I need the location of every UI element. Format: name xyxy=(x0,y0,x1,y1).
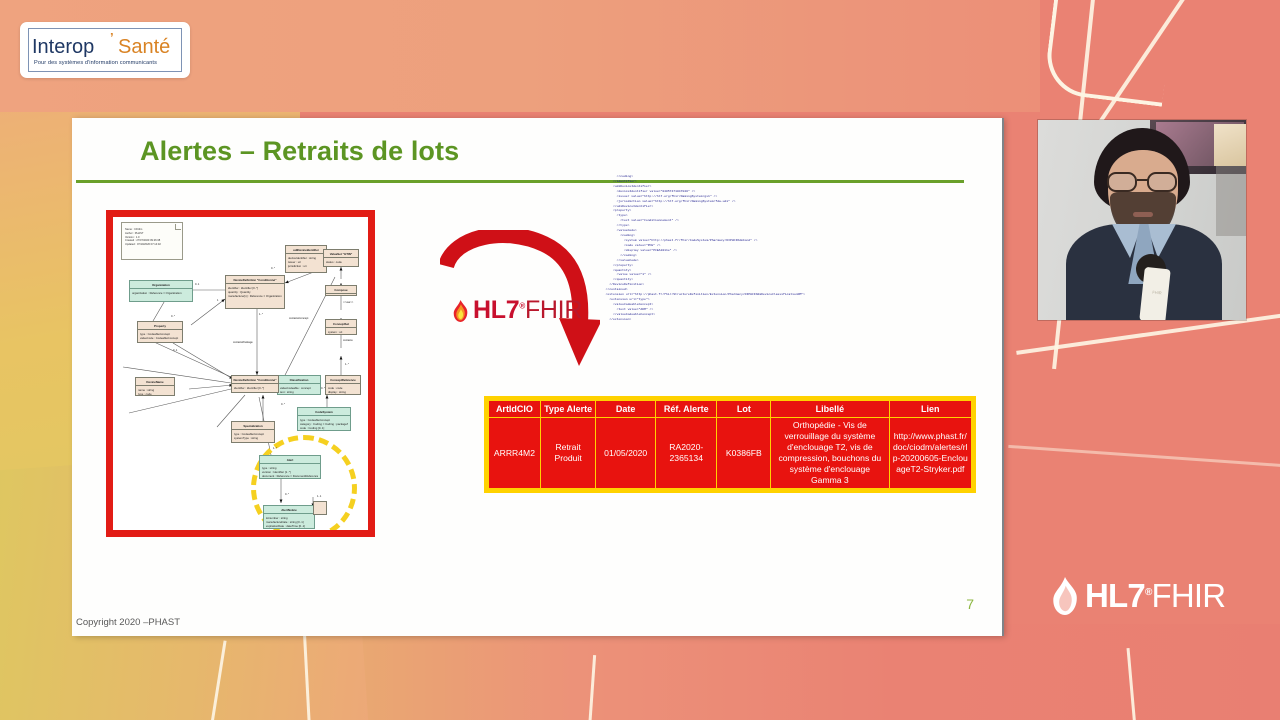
watermark-hl7: HL7 xyxy=(1085,577,1145,614)
col-header-lot: Lot xyxy=(717,401,771,418)
uml-class-devicename: DeviceName name : string type : code xyxy=(135,377,175,396)
logo-word-interop: Interop xyxy=(32,36,94,59)
fhir-logo-text: HL7®FHIR xyxy=(473,296,582,325)
uml-edge-label: containsConcept xyxy=(289,317,308,320)
table-header-row: ArtIdCIO Type Alerte Date Réf. Alerte Lo… xyxy=(489,401,972,418)
cell-lien: http://www.phast.fr/doc/ciodm/alertes/rl… xyxy=(889,418,971,489)
glasses-icon xyxy=(1105,172,1181,192)
col-header-ref-alerte: Réf. Alerte xyxy=(656,401,717,418)
cell-artidcio: ARRR4M2 xyxy=(489,418,541,489)
uml-note-box: Name : CIOdm Author : PHAST Version : 1.… xyxy=(121,222,183,260)
speaker-video-panel[interactable]: FHIR xyxy=(1038,120,1246,320)
uml-class-conceptset: ConceptSet system : uri xyxy=(325,319,357,335)
uml-class-alertnotice: AlertNotice lotnumber : string manufactu… xyxy=(263,505,315,529)
col-header-date: Date xyxy=(596,401,656,418)
flame-icon xyxy=(452,300,469,322)
uml-edge-label: <<use>> xyxy=(343,301,353,304)
watermark-fhir: FHIR xyxy=(1152,577,1226,614)
screen-root: Interop ’ Santé Pour des systèmes d'info… xyxy=(0,0,1280,720)
uml-class-organization: Organization organization : Reference = … xyxy=(129,280,193,302)
col-header-type-alerte: Type Alerte xyxy=(540,401,595,418)
cell-type-alerte: Retrait Produit xyxy=(540,418,595,489)
watermark-flame-icon xyxy=(1050,577,1080,615)
cell-date: 01/05/2020 xyxy=(596,418,656,489)
uml-class-udideviceidentifier: udiDeviceIdentifier deviceIdentifier : s… xyxy=(285,245,327,273)
interop-sante-logo: Interop ’ Santé Pour des systèmes d'info… xyxy=(20,22,190,78)
col-header-artidcio: ArtIdCIO xyxy=(489,401,541,418)
speaker-mouth xyxy=(1133,212,1153,217)
fhir-logo-fhir: FHIR xyxy=(525,296,582,324)
alert-table: ArtIdCIO Type Alerte Date Réf. Alerte Lo… xyxy=(488,400,972,489)
table-row: ARRR4M2 Retrait Produit 01/05/2020 RA202… xyxy=(489,418,972,489)
presentation-slide: Alertes – Retraits de lots xyxy=(72,118,1002,636)
col-header-lien: Lien xyxy=(889,401,971,418)
uml-class-specialization: Specialization type : CodeableConcept sy… xyxy=(231,421,275,443)
cell-libelle: Orthopédie - Vis de verrouillage du syst… xyxy=(771,418,889,489)
page-number: 7 xyxy=(966,596,974,612)
page-title: Alertes – Retraits de lots xyxy=(140,136,459,167)
uml-class-property: Property type : CodeableConcept valueCod… xyxy=(137,321,183,343)
uml-class-conceptreference: ConceptReference code : code display : s… xyxy=(325,375,361,395)
alert-table-wrapper: ArtIdCIO Type Alerte Date Réf. Alerte Lo… xyxy=(484,396,976,493)
cell-ref-alerte: RA2020-2365134 xyxy=(656,418,717,489)
video-bg-light xyxy=(1214,124,1246,166)
video-bg-shadow xyxy=(1216,166,1246,236)
logo-tagline: Pour des systèmes d'information communic… xyxy=(34,60,157,66)
uml-class-classification: Classification valueCodeable : concept t… xyxy=(277,375,321,395)
fhir-logo-hl7: HL7 xyxy=(473,296,519,324)
col-header-libelle: Libellé xyxy=(771,401,889,418)
uml-edge-label: containsPackage xyxy=(233,341,253,344)
uml-class-alert: Alert type : string version : Identifier… xyxy=(259,455,321,479)
watermark-reg: ® xyxy=(1145,587,1152,598)
uml-note-line: Updated : 07/10/2020 07:14:02 xyxy=(125,243,179,247)
cell-lot: K0386FB xyxy=(717,418,771,489)
logo-apostrophe-icon: ’ xyxy=(110,30,114,45)
uml-diagram-panel: Name : CIOdm Author : PHAST Version : 1.… xyxy=(106,210,375,537)
watermark-text: HL7®FHIR xyxy=(1085,577,1225,615)
uml-canvas: Name : CIOdm Author : PHAST Version : 1.… xyxy=(113,217,368,530)
uml-class-valueset-gtin: ValueSet "GTIN" status : code xyxy=(323,249,359,267)
uml-class-devicedefinition: DeviceDefinition "Conditionné" identifie… xyxy=(225,275,285,309)
uml-class-small-aux xyxy=(313,501,327,515)
xml-code-block: </coding> </identifier> <udiDeviceIdenti… xyxy=(602,174,982,389)
logo-word-sante: Santé xyxy=(118,36,170,59)
copyright-text: Copyright 2020 –PHAST xyxy=(76,617,180,628)
uml-class-devicedefinition-lower: DeviceDefinition "Conditionné" identifie… xyxy=(231,375,279,393)
uml-class-codesystem: CodeSystem type : CodeableConcept catego… xyxy=(297,407,351,431)
uml-edge-label: contains xyxy=(343,339,353,342)
hl7-fhir-logo: HL7®FHIR xyxy=(452,296,582,325)
hl7-fhir-watermark: HL7®FHIR xyxy=(1050,577,1225,615)
uml-class-compose: Compose xyxy=(325,285,357,296)
